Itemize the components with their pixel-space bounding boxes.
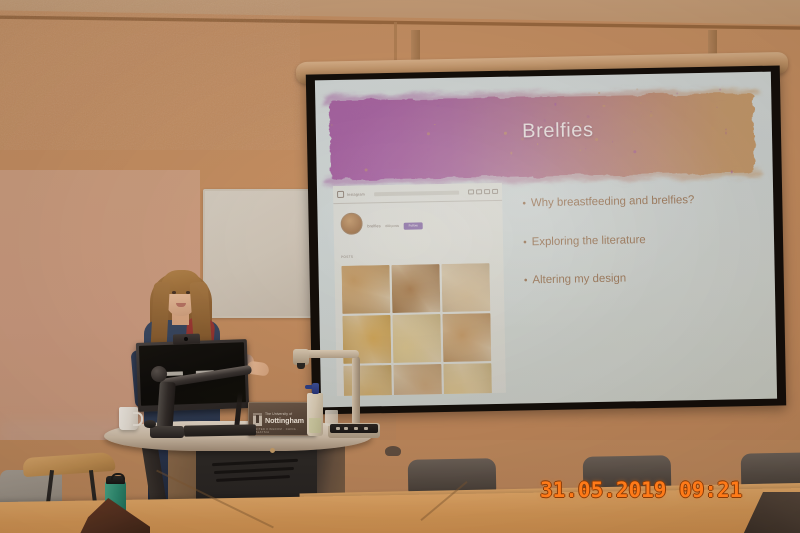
avatar [340,213,362,235]
instagram-wordmark: Instagram [347,192,365,196]
instagram-posts-tab: POSTS [341,255,353,259]
mouse [144,420,156,428]
bullet-marker-icon: • [524,277,528,287]
instagram-stats: 689 posts [385,224,399,228]
camera-timestamp: 31.05.2019 09:21 [540,478,742,502]
instagram-handle: brelfies [367,225,381,229]
university-sign-text: The University of Nottingham [265,413,304,424]
projection-screen-surface: Brelfies Instagram [315,72,777,408]
slide-bullet-text: Why breastfeeding and brelfies? [531,194,695,211]
slide-bullet-text: Exploring the literature [532,234,646,250]
lectern-lock [270,448,275,453]
instagram-photo-tile [393,364,442,395]
instagram-photo-tile [392,314,441,363]
instagram-profile-header: brelfies 689 posts Follow [340,212,423,236]
instagram-profile-meta: brelfies 689 posts Follow [367,212,423,233]
document-camera-control-panel [330,424,378,433]
presenter-eye-left [172,291,176,294]
instagram-nav-icons [468,189,498,195]
chair [408,458,497,494]
instagram-photo [441,263,490,312]
mug [119,407,138,430]
document-camera-button [336,427,340,430]
follow-button: Follow [404,222,423,229]
document-camera-column [352,356,360,426]
spray-bottle-trigger [305,383,323,395]
home-icon [468,189,474,195]
instagram-photo [393,364,442,395]
lectern-vent [216,475,290,481]
lecture-room-photo: Brelfies Instagram [0,0,800,533]
spray-neck [312,383,319,394]
university-sign-campuses: UNITED KINGDOM · CHINA · MALAYSIA [253,428,315,434]
spray-bottle-liquid [309,418,321,433]
document-camera-lens [297,363,305,369]
bullet-marker-icon: • [523,238,527,248]
instagram-photo-grid [341,263,492,396]
presenter-eye-right [186,291,190,294]
projection-screen: Brelfies Instagram [306,65,786,414]
instagram-photo-tile [343,365,392,395]
instagram-photo-tile [443,363,492,395]
document-camera-button [354,427,358,430]
presentation-slide: Brelfies Instagram [315,72,777,408]
whiteboard [203,189,319,318]
slide-bullet: •Altering my design [524,270,766,288]
document-camera-button [344,427,348,430]
bullet-marker-icon: • [522,199,526,209]
slide-bullet: •Why breastfeeding and brelfies? [522,193,764,211]
instagram-photo-tile [341,265,390,314]
instagram-photo [343,365,392,395]
spray-bottle [307,393,323,436]
heart-icon [476,189,482,195]
instagram-search-input [374,190,459,196]
university-sign-name: Nottingham [265,417,304,425]
slide-bullet: •Exploring the literature [523,231,765,249]
keyboard [184,424,256,436]
instagram-photo-tile [441,263,490,312]
profile-icon [492,189,498,195]
instagram-photo [341,265,390,314]
document-camera-button [364,427,368,430]
monitor-arm-base [150,426,184,438]
instagram-camera-icon [337,191,344,198]
monitor-arm-joint [151,366,167,382]
instagram-photo [391,264,440,313]
instagram-photo-tile [442,313,491,362]
instagram-photo [392,314,441,363]
university-sign: The University of Nottingham UNITED KING… [248,402,316,436]
slide-bullet-list: •Why breastfeeding and brelfies?•Explori… [522,193,766,314]
slide-bullet-text: Altering my design [532,273,626,288]
water-bottle-handle [111,473,125,480]
lectern-vent [214,467,294,474]
compass-icon [484,189,490,195]
instagram-topbar: Instagram [333,183,502,204]
screen-bracket-left [411,30,420,60]
webcam [173,334,200,345]
instagram-photo-tile [391,264,440,313]
wall-fixture [385,446,401,456]
instagram-photo [442,313,491,362]
instagram-photo [443,363,492,395]
lectern-vent [212,459,298,466]
